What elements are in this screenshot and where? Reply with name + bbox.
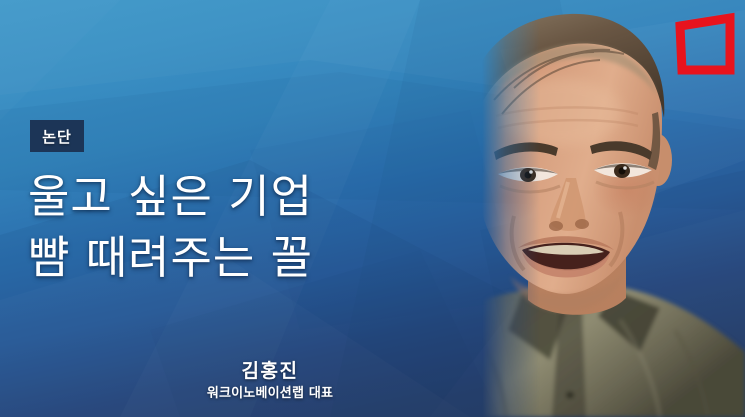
byline: 김홍진 워크이노베이션랩 대표	[120, 360, 420, 403]
category-badge[interactable]: 논단	[30, 120, 84, 152]
red-quadrilateral-logo	[672, 10, 738, 76]
headline: 울고 싶은 기업 뺨 때려주는 꼴	[28, 166, 428, 288]
article-hero-card: 논단 울고 싶은 기업 뺨 때려주는 꼴 김홍진 워크이노베이션랩 대표	[0, 0, 745, 417]
author-title: 워크이노베이션랩 대표	[120, 385, 420, 403]
headline-line-2: 뺨 때려주는 꼴	[28, 227, 428, 288]
author-name: 김홍진	[120, 360, 420, 383]
headline-line-1: 울고 싶은 기업	[28, 166, 428, 227]
